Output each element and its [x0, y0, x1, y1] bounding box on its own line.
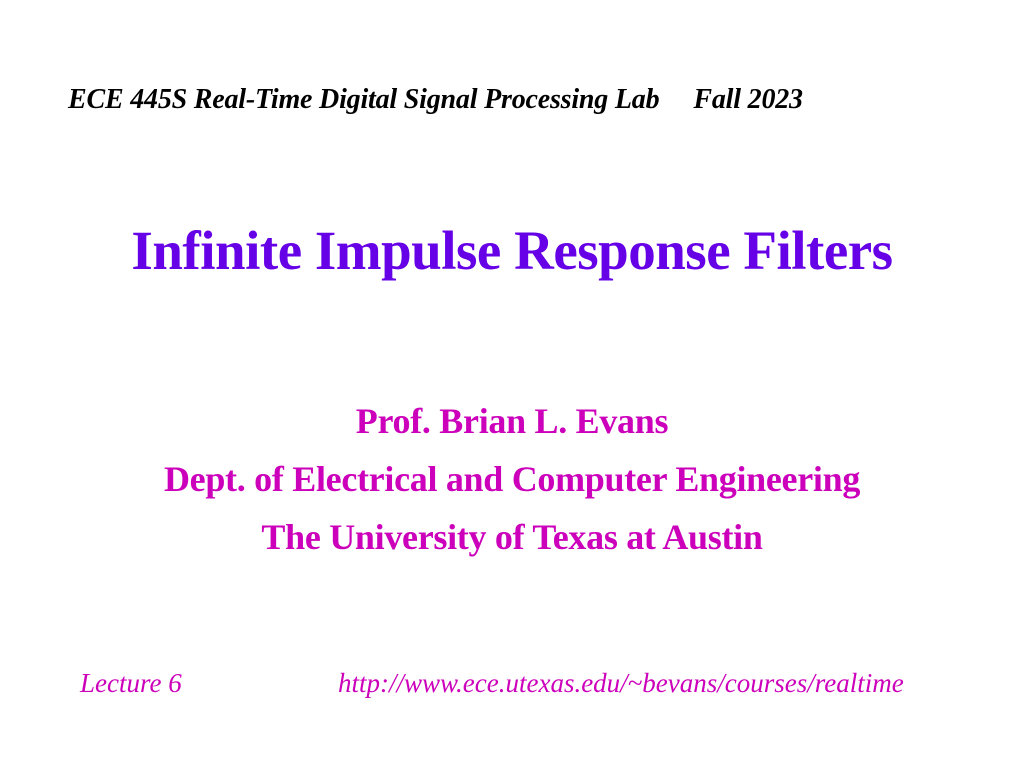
author-institution: The University of Texas at Austin: [0, 508, 1024, 566]
course-title: ECE 445S Real-Time Digital Signal Proces…: [68, 84, 659, 116]
course-url-link[interactable]: http://www.ece.utexas.edu/~bevans/course…: [338, 668, 904, 699]
slide-header: ECE 445S Real-Time Digital Signal Proces…: [68, 84, 968, 116]
slide-footer: Lecture 6 http://www.ece.utexas.edu/~bev…: [0, 668, 1024, 708]
course-term: Fall 2023: [693, 84, 802, 116]
lecture-number: Lecture 6: [80, 668, 182, 699]
author-block: Prof. Brian L. Evans Dept. of Electrical…: [0, 392, 1024, 566]
title-slide: ECE 445S Real-Time Digital Signal Proces…: [0, 0, 1024, 768]
page-title: Infinite Impulse Response Filters: [0, 220, 1024, 282]
author-department: Dept. of Electrical and Computer Enginee…: [0, 450, 1024, 508]
author-name: Prof. Brian L. Evans: [0, 392, 1024, 450]
